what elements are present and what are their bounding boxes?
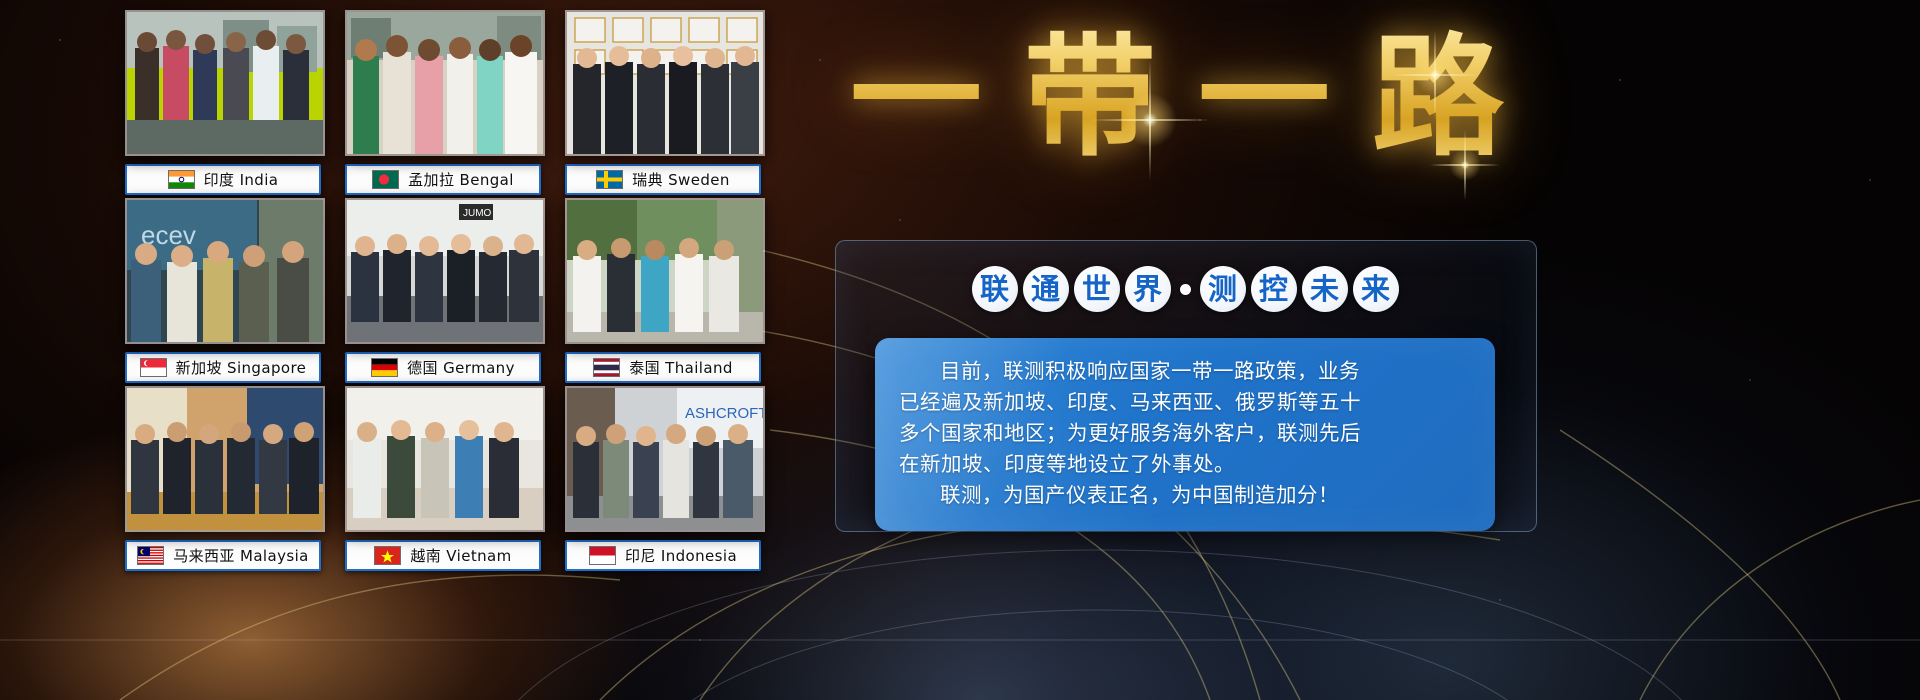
gallery-item[interactable]: 越南 Vietnam <box>345 386 545 574</box>
banner-stage: 一 带 一 路 联 通 世 界 测 控 未 来 目前，联测积极响应国家一带一路政… <box>0 0 1920 700</box>
flag-malaysia-icon <box>137 546 164 565</box>
photo-thumbnail[interactable] <box>565 10 765 156</box>
calligraphy-char-3: 一 <box>1198 32 1336 164</box>
flag-indonesia-icon <box>589 546 616 565</box>
description-line-4: 在新加坡、印度等地设立了外事处。 <box>899 449 1471 480</box>
flag-bangladesh-icon <box>372 170 399 189</box>
description-box: 目前，联测积极响应国家一带一路政策，业务 已经遍及新加坡、印度、马来西亚、俄罗斯… <box>875 338 1495 531</box>
slogan-char-4: 界 <box>1125 266 1171 312</box>
gallery-item[interactable]: 孟加拉 Bengal <box>345 10 545 198</box>
gallery-item[interactable]: 印度 India <box>125 10 325 198</box>
slogan-char-7: 控 <box>1251 266 1297 312</box>
country-caption[interactable]: 越南 Vietnam <box>345 540 541 571</box>
gallery-item[interactable]: JUMO 德国 Germany <box>345 198 545 386</box>
flag-singapore-icon <box>140 358 167 377</box>
country-caption[interactable]: 印度 India <box>125 164 321 195</box>
country-caption[interactable]: 印尼 Indonesia <box>565 540 761 571</box>
description-line-2: 已经遍及新加坡、印度、马来西亚、俄罗斯等五十 <box>899 387 1471 418</box>
gallery-item[interactable]: 瑞典 Sweden <box>565 10 765 198</box>
photo-thumbnail[interactable]: JUMO <box>345 198 545 344</box>
country-label: 瑞典 Sweden <box>632 169 730 190</box>
country-caption[interactable]: 德国 Germany <box>345 352 541 383</box>
calligraphy-char-1: 一 <box>850 32 988 164</box>
headline-calligraphy: 一 带 一 路 <box>840 8 1520 188</box>
slogan-char-3: 世 <box>1074 266 1120 312</box>
country-label: 印度 India <box>204 169 279 190</box>
svg-text:ASHCROFT: ASHCROFT <box>685 405 763 422</box>
country-label: 印尼 Indonesia <box>625 545 737 566</box>
photo-thumbnail[interactable] <box>345 10 545 156</box>
slogan-row: 联 通 世 界 测 控 未 来 <box>950 258 1420 320</box>
flag-india-icon <box>168 170 195 189</box>
country-label: 新加坡 Singapore <box>176 357 307 378</box>
slogan-char-8: 未 <box>1302 266 1348 312</box>
flag-germany-icon <box>371 358 398 377</box>
photo-thumbnail[interactable]: ASHCROFT <box>565 386 765 532</box>
gallery-item[interactable]: ecev 新加坡 Singapore <box>125 198 325 386</box>
country-caption[interactable]: 孟加拉 Bengal <box>345 164 541 195</box>
photo-thumbnail[interactable] <box>125 10 325 156</box>
country-label: 孟加拉 Bengal <box>408 169 514 190</box>
country-caption[interactable]: 新加坡 Singapore <box>125 352 321 383</box>
photo-thumbnail[interactable]: ecev <box>125 198 325 344</box>
svg-text:JUMO: JUMO <box>463 208 492 219</box>
slogan-char-1: 联 <box>972 266 1018 312</box>
gallery-item[interactable]: ASHCROFT 印尼 Indonesia <box>565 386 765 574</box>
photo-thumbnail[interactable] <box>345 386 545 532</box>
gallery-item[interactable]: 马来西亚 Malaysia <box>125 386 325 574</box>
description-line-1: 目前，联测积极响应国家一带一路政策，业务 <box>899 356 1471 387</box>
country-label: 德国 Germany <box>407 357 515 378</box>
slogan-char-9: 来 <box>1353 266 1399 312</box>
description-line-5: 联测，为国产仪表正名，为中国制造加分！ <box>899 480 1471 511</box>
gallery-item[interactable]: 泰国 Thailand <box>565 198 765 386</box>
country-caption[interactable]: 马来西亚 Malaysia <box>125 540 321 571</box>
country-caption[interactable]: 泰国 Thailand <box>565 352 761 383</box>
country-label: 泰国 Thailand <box>629 357 733 378</box>
slogan-char-2: 通 <box>1023 266 1069 312</box>
slogan-separator-dot <box>1180 284 1191 295</box>
country-label: 越南 Vietnam <box>410 545 511 566</box>
photo-gallery: 印度 India <box>125 10 765 574</box>
calligraphy-char-4: 路 <box>1372 32 1510 164</box>
country-caption[interactable]: 瑞典 Sweden <box>565 164 761 195</box>
photo-thumbnail[interactable] <box>565 198 765 344</box>
description-line-3: 多个国家和地区；为更好服务海外客户，联测先后 <box>899 418 1471 449</box>
photo-thumbnail[interactable] <box>125 386 325 532</box>
flag-vietnam-icon <box>374 546 401 565</box>
flag-sweden-icon <box>596 170 623 189</box>
calligraphy-char-2: 带 <box>1024 32 1162 164</box>
country-label: 马来西亚 Malaysia <box>173 545 309 566</box>
slogan-char-6: 测 <box>1200 266 1246 312</box>
flag-thailand-icon <box>593 358 620 377</box>
